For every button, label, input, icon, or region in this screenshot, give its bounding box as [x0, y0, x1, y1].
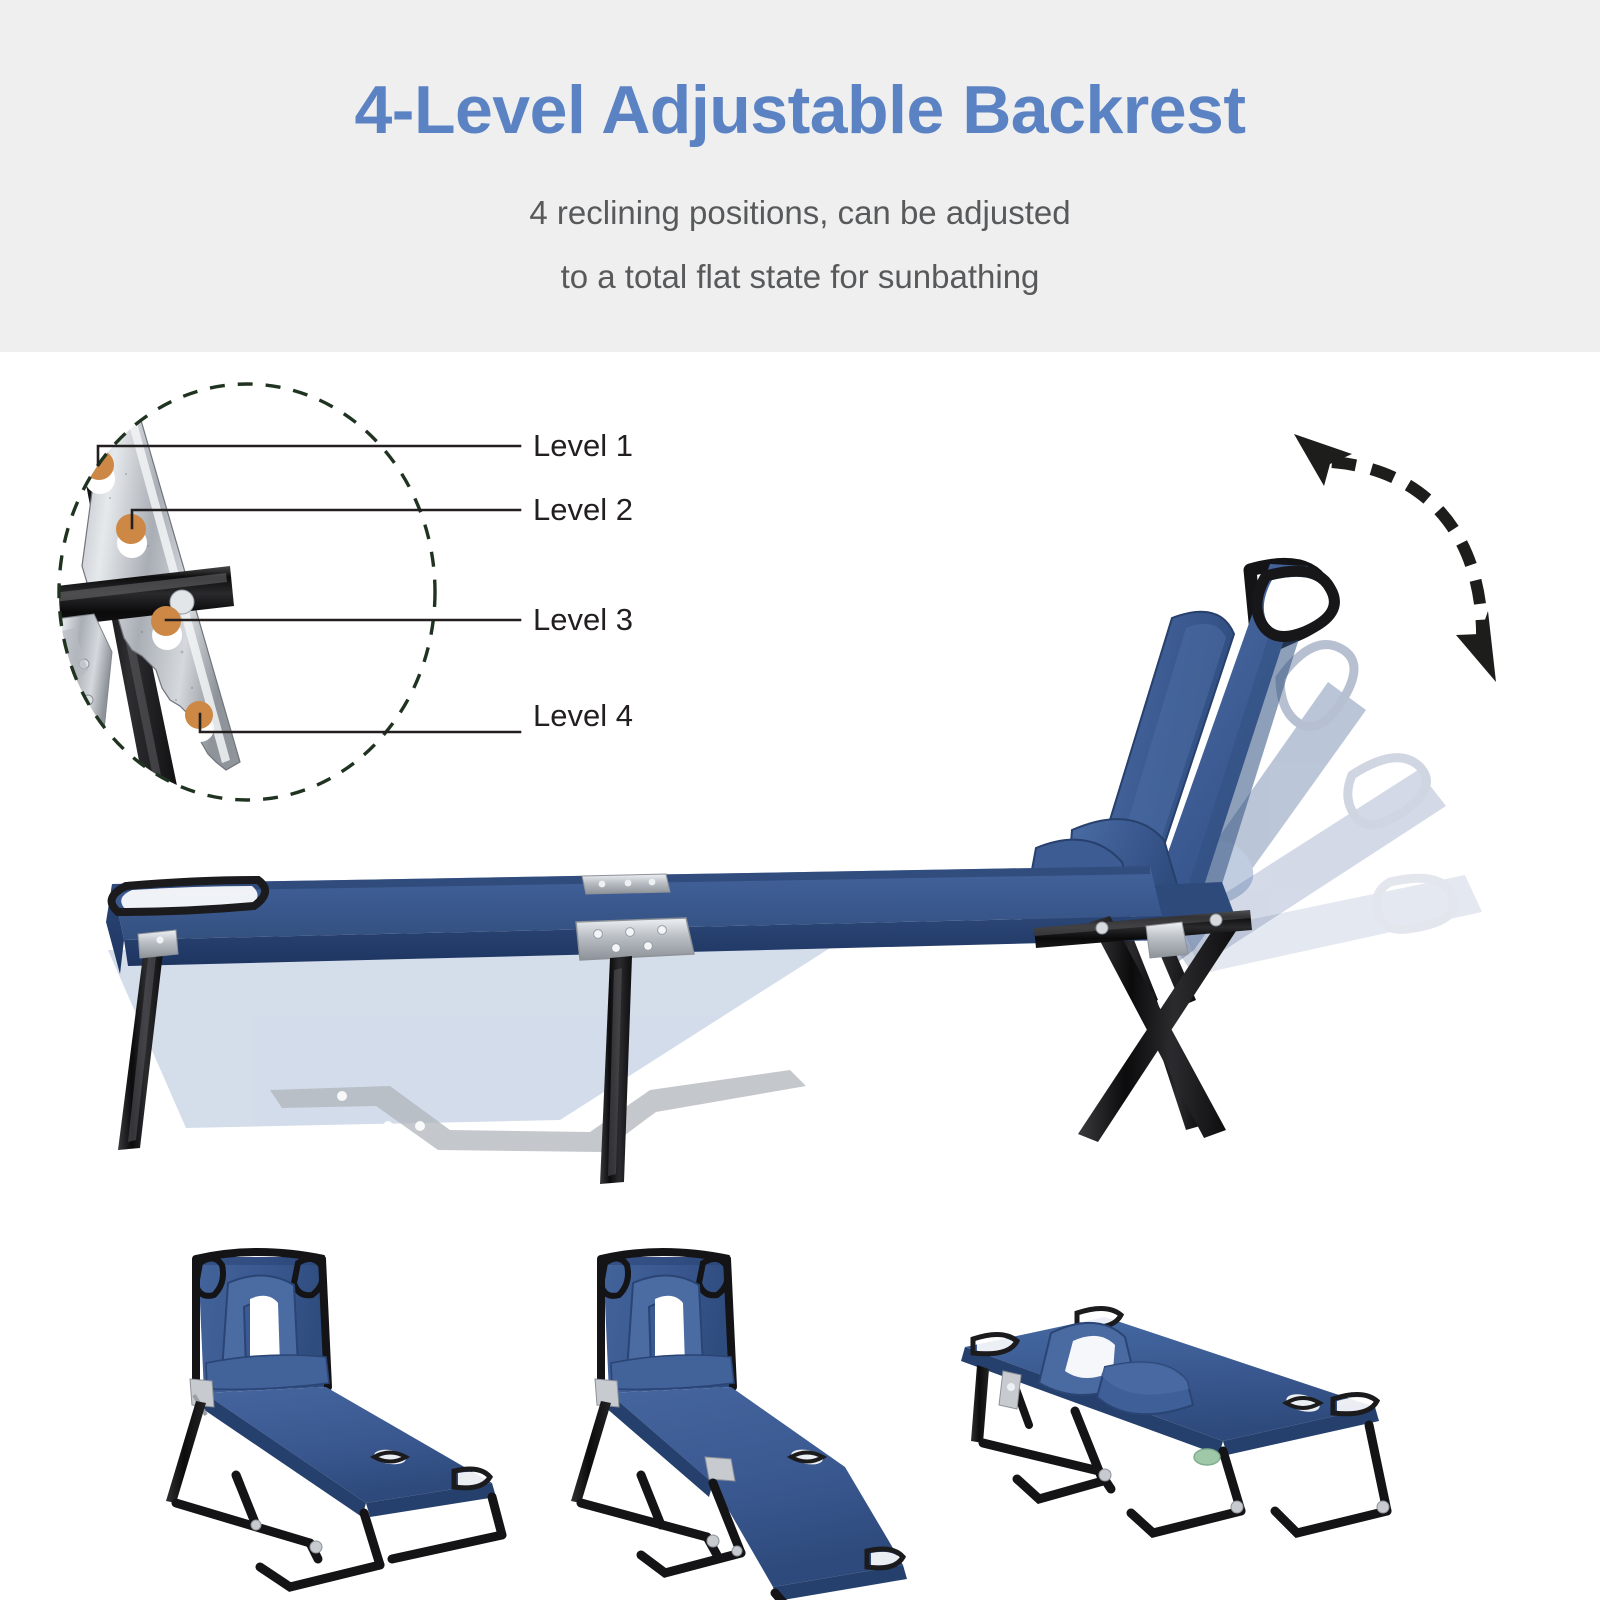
infographic-root: 4-Level Adjustable Backrest 4 reclining … — [0, 0, 1600, 1600]
chair-reclined-position — [545, 1235, 965, 1595]
backrest-panel — [601, 1252, 734, 1393]
header-band — [0, 0, 1600, 352]
frame-shadow — [108, 948, 830, 1152]
leader-line-level-2 — [132, 510, 520, 528]
label-level-1: Level 1 — [533, 430, 633, 461]
rear-x-legs — [1034, 910, 1252, 1142]
subtitle-line-2: to a total flat state for sunbathing — [0, 260, 1600, 293]
folded-head-cushion — [1039, 1323, 1193, 1414]
seat-hinge-plate-lower — [576, 918, 694, 960]
leader-line-level-1 — [98, 446, 520, 465]
lounge-chair-main — [90, 530, 1470, 1190]
page-title: 4-Level Adjustable Backrest — [0, 76, 1600, 144]
chair-flat-position — [955, 1275, 1425, 1595]
label-level-2: Level 2 — [533, 494, 633, 525]
seat-hinge-plate-upper — [582, 874, 670, 894]
chair-upright-position — [140, 1235, 560, 1595]
subtitle-line-1: 4 reclining positions, can be adjusted — [0, 196, 1600, 229]
backrest-panel — [196, 1252, 329, 1393]
